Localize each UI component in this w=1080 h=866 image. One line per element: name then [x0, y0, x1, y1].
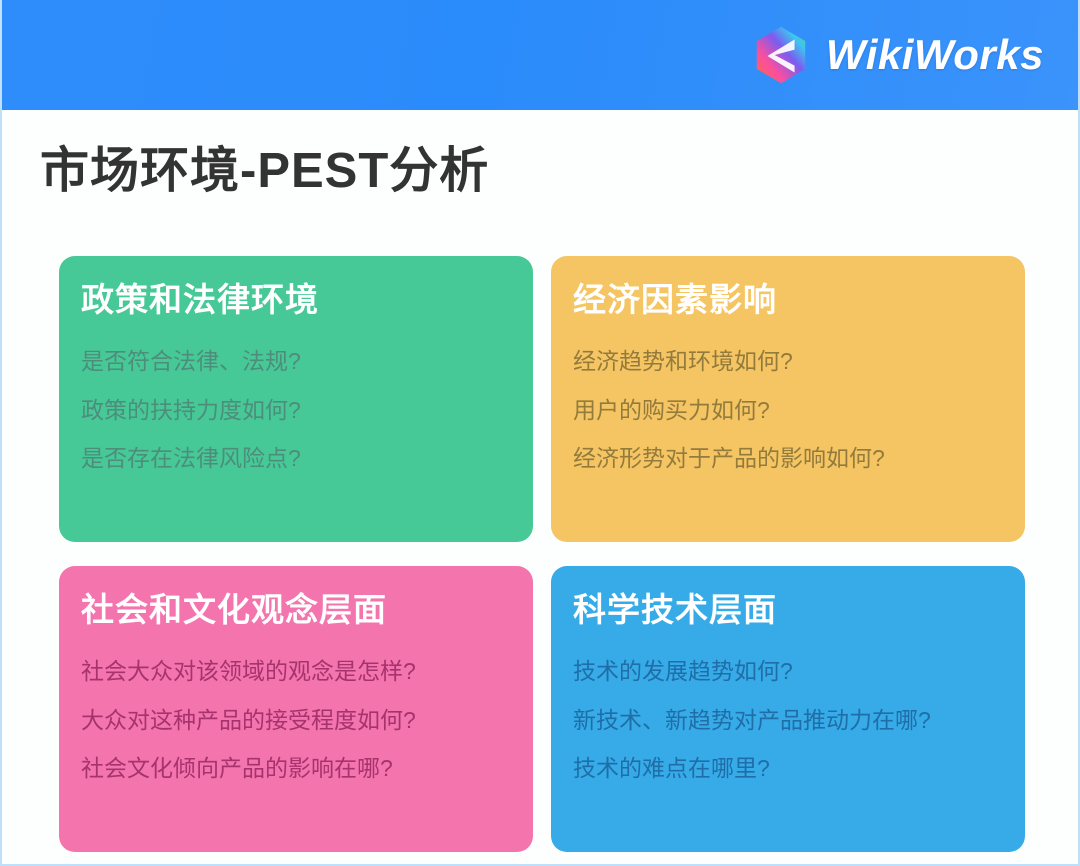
card-title: 科学技术层面	[573, 592, 1003, 628]
card-line: 社会文化倾向产品的影响在哪?	[81, 755, 511, 781]
brand-logo[interactable]: WikiWorks	[750, 24, 1044, 86]
card-line-list: 是否符合法律、法规? 政策的扶持力度如何? 是否存在法律风险点?	[81, 348, 511, 471]
card-line-list: 社会大众对该领域的观念是怎样? 大众对这种产品的接受程度如何? 社会文化倾向产品…	[81, 658, 511, 781]
card-line: 经济形势对于产品的影响如何?	[573, 445, 1003, 471]
wikiworks-gradient-cube-icon	[750, 24, 812, 86]
pest-card-social[interactable]: 社会和文化观念层面 社会大众对该领域的观念是怎样? 大众对这种产品的接受程度如何…	[59, 566, 533, 852]
card-line: 技术的难点在哪里?	[573, 755, 1003, 781]
brand-name: WikiWorks	[826, 34, 1044, 76]
pest-card-grid: 政策和法律环境 是否符合法律、法规? 政策的扶持力度如何? 是否存在法律风险点?…	[59, 256, 1025, 852]
card-title: 经济因素影响	[573, 282, 1003, 318]
pest-card-technological[interactable]: 科学技术层面 技术的发展趋势如何? 新技术、新趋势对产品推动力在哪? 技术的难点…	[551, 566, 1025, 852]
card-title: 政策和法律环境	[81, 282, 511, 318]
header-bar: WikiWorks	[0, 0, 1080, 110]
card-line: 用户的购买力如何?	[573, 397, 1003, 423]
card-line: 经济趋势和环境如何?	[573, 348, 1003, 374]
card-line: 大众对这种产品的接受程度如何?	[81, 707, 511, 733]
card-line: 是否存在法律风险点?	[81, 445, 511, 471]
card-line-list: 经济趋势和环境如何? 用户的购买力如何? 经济形势对于产品的影响如何?	[573, 348, 1003, 471]
card-line: 新技术、新趋势对产品推动力在哪?	[573, 707, 1003, 733]
pest-card-economic[interactable]: 经济因素影响 经济趋势和环境如何? 用户的购买力如何? 经济形势对于产品的影响如…	[551, 256, 1025, 542]
card-title: 社会和文化观念层面	[81, 592, 511, 628]
pest-card-political[interactable]: 政策和法律环境 是否符合法律、法规? 政策的扶持力度如何? 是否存在法律风险点?	[59, 256, 533, 542]
pest-analysis-slide: WikiWorks 市场环境-PEST分析 政策和法律环境 是否符合法律、法规?…	[0, 0, 1080, 866]
card-line: 技术的发展趋势如何?	[573, 658, 1003, 684]
card-line: 是否符合法律、法规?	[81, 348, 511, 374]
card-line: 政策的扶持力度如何?	[81, 397, 511, 423]
card-line-list: 技术的发展趋势如何? 新技术、新趋势对产品推动力在哪? 技术的难点在哪里?	[573, 658, 1003, 781]
card-line: 社会大众对该领域的观念是怎样?	[81, 658, 511, 684]
page-title: 市场环境-PEST分析	[40, 142, 489, 201]
